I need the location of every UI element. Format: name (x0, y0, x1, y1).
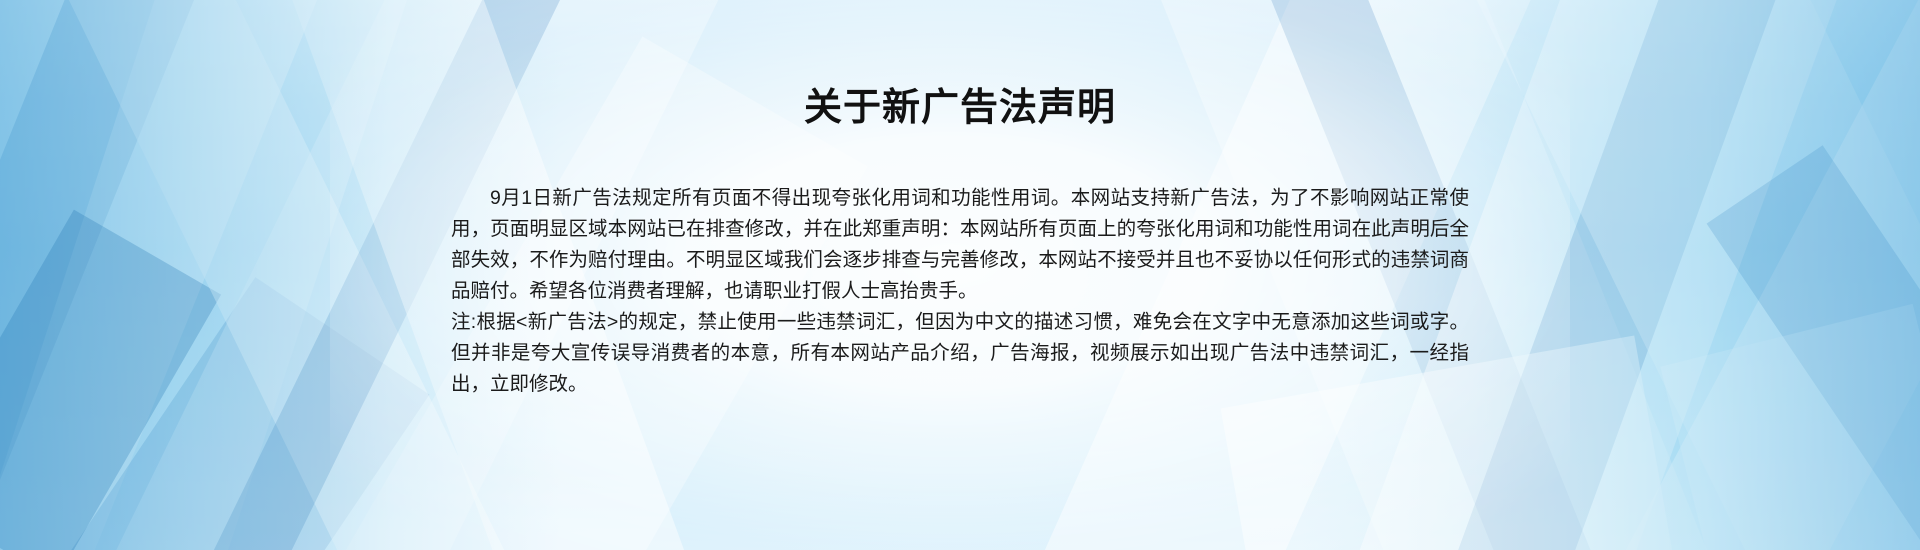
notice-content: 关于新广告法声明 9月1日新广告法规定所有页面不得出现夸张化用词和功能性用词。本… (0, 0, 1920, 400)
notice-paragraph-statement: 9月1日新广告法规定所有页面不得出现夸张化用词和功能性用词。本网站支持新广告法，… (451, 183, 1469, 307)
advertising-law-banner: 关于新广告法声明 9月1日新广告法规定所有页面不得出现夸张化用词和功能性用词。本… (0, 0, 1920, 550)
page-title: 关于新广告法声明 (804, 86, 1116, 132)
notice-paragraph-note: 注:根据<新广告法>的规定，禁止使用一些违禁词汇，但因为中文的描述习惯，难免会在… (451, 307, 1469, 400)
notice-body: 9月1日新广告法规定所有页面不得出现夸张化用词和功能性用词。本网站支持新广告法，… (451, 183, 1469, 400)
